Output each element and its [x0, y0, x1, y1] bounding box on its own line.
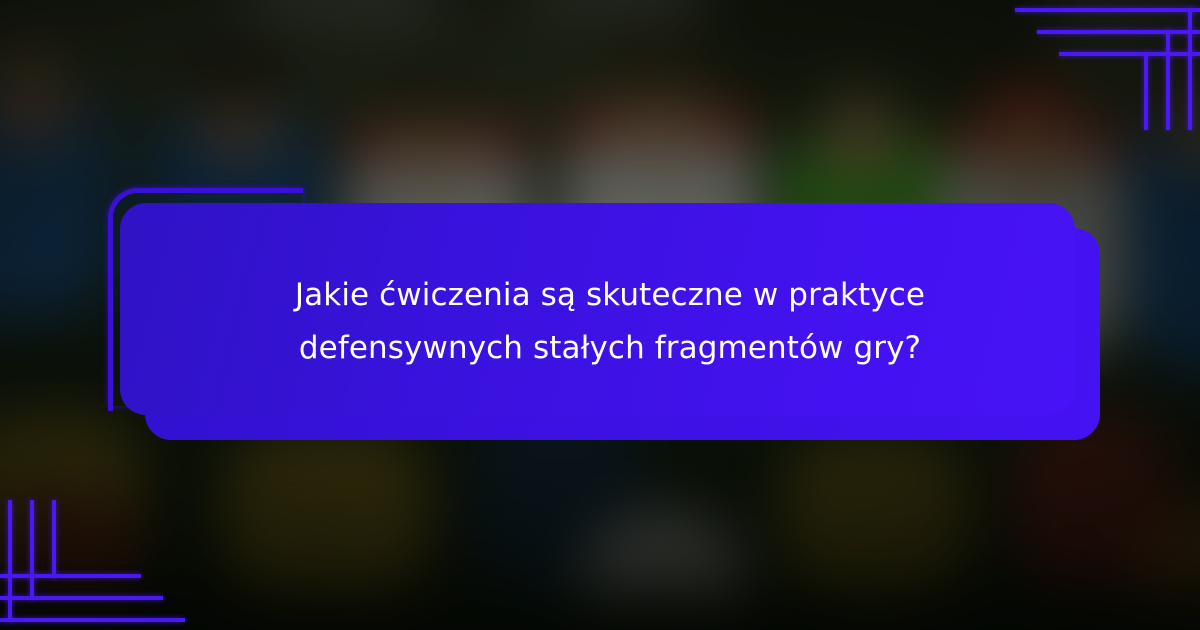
question-line-1: Jakie ćwiczenia są skuteczne w praktyce	[295, 277, 925, 314]
question-text-block: Jakie ćwiczenia są skuteczne w praktyce …	[120, 203, 1100, 440]
question-card-stack: Jakie ćwiczenia są skuteczne w praktyce …	[0, 0, 1200, 630]
question-line-2: defensywnych stałych fragmentów gry?	[299, 330, 921, 367]
share-card-canvas: Jakie ćwiczenia są skuteczne w praktyce …	[0, 0, 1200, 630]
